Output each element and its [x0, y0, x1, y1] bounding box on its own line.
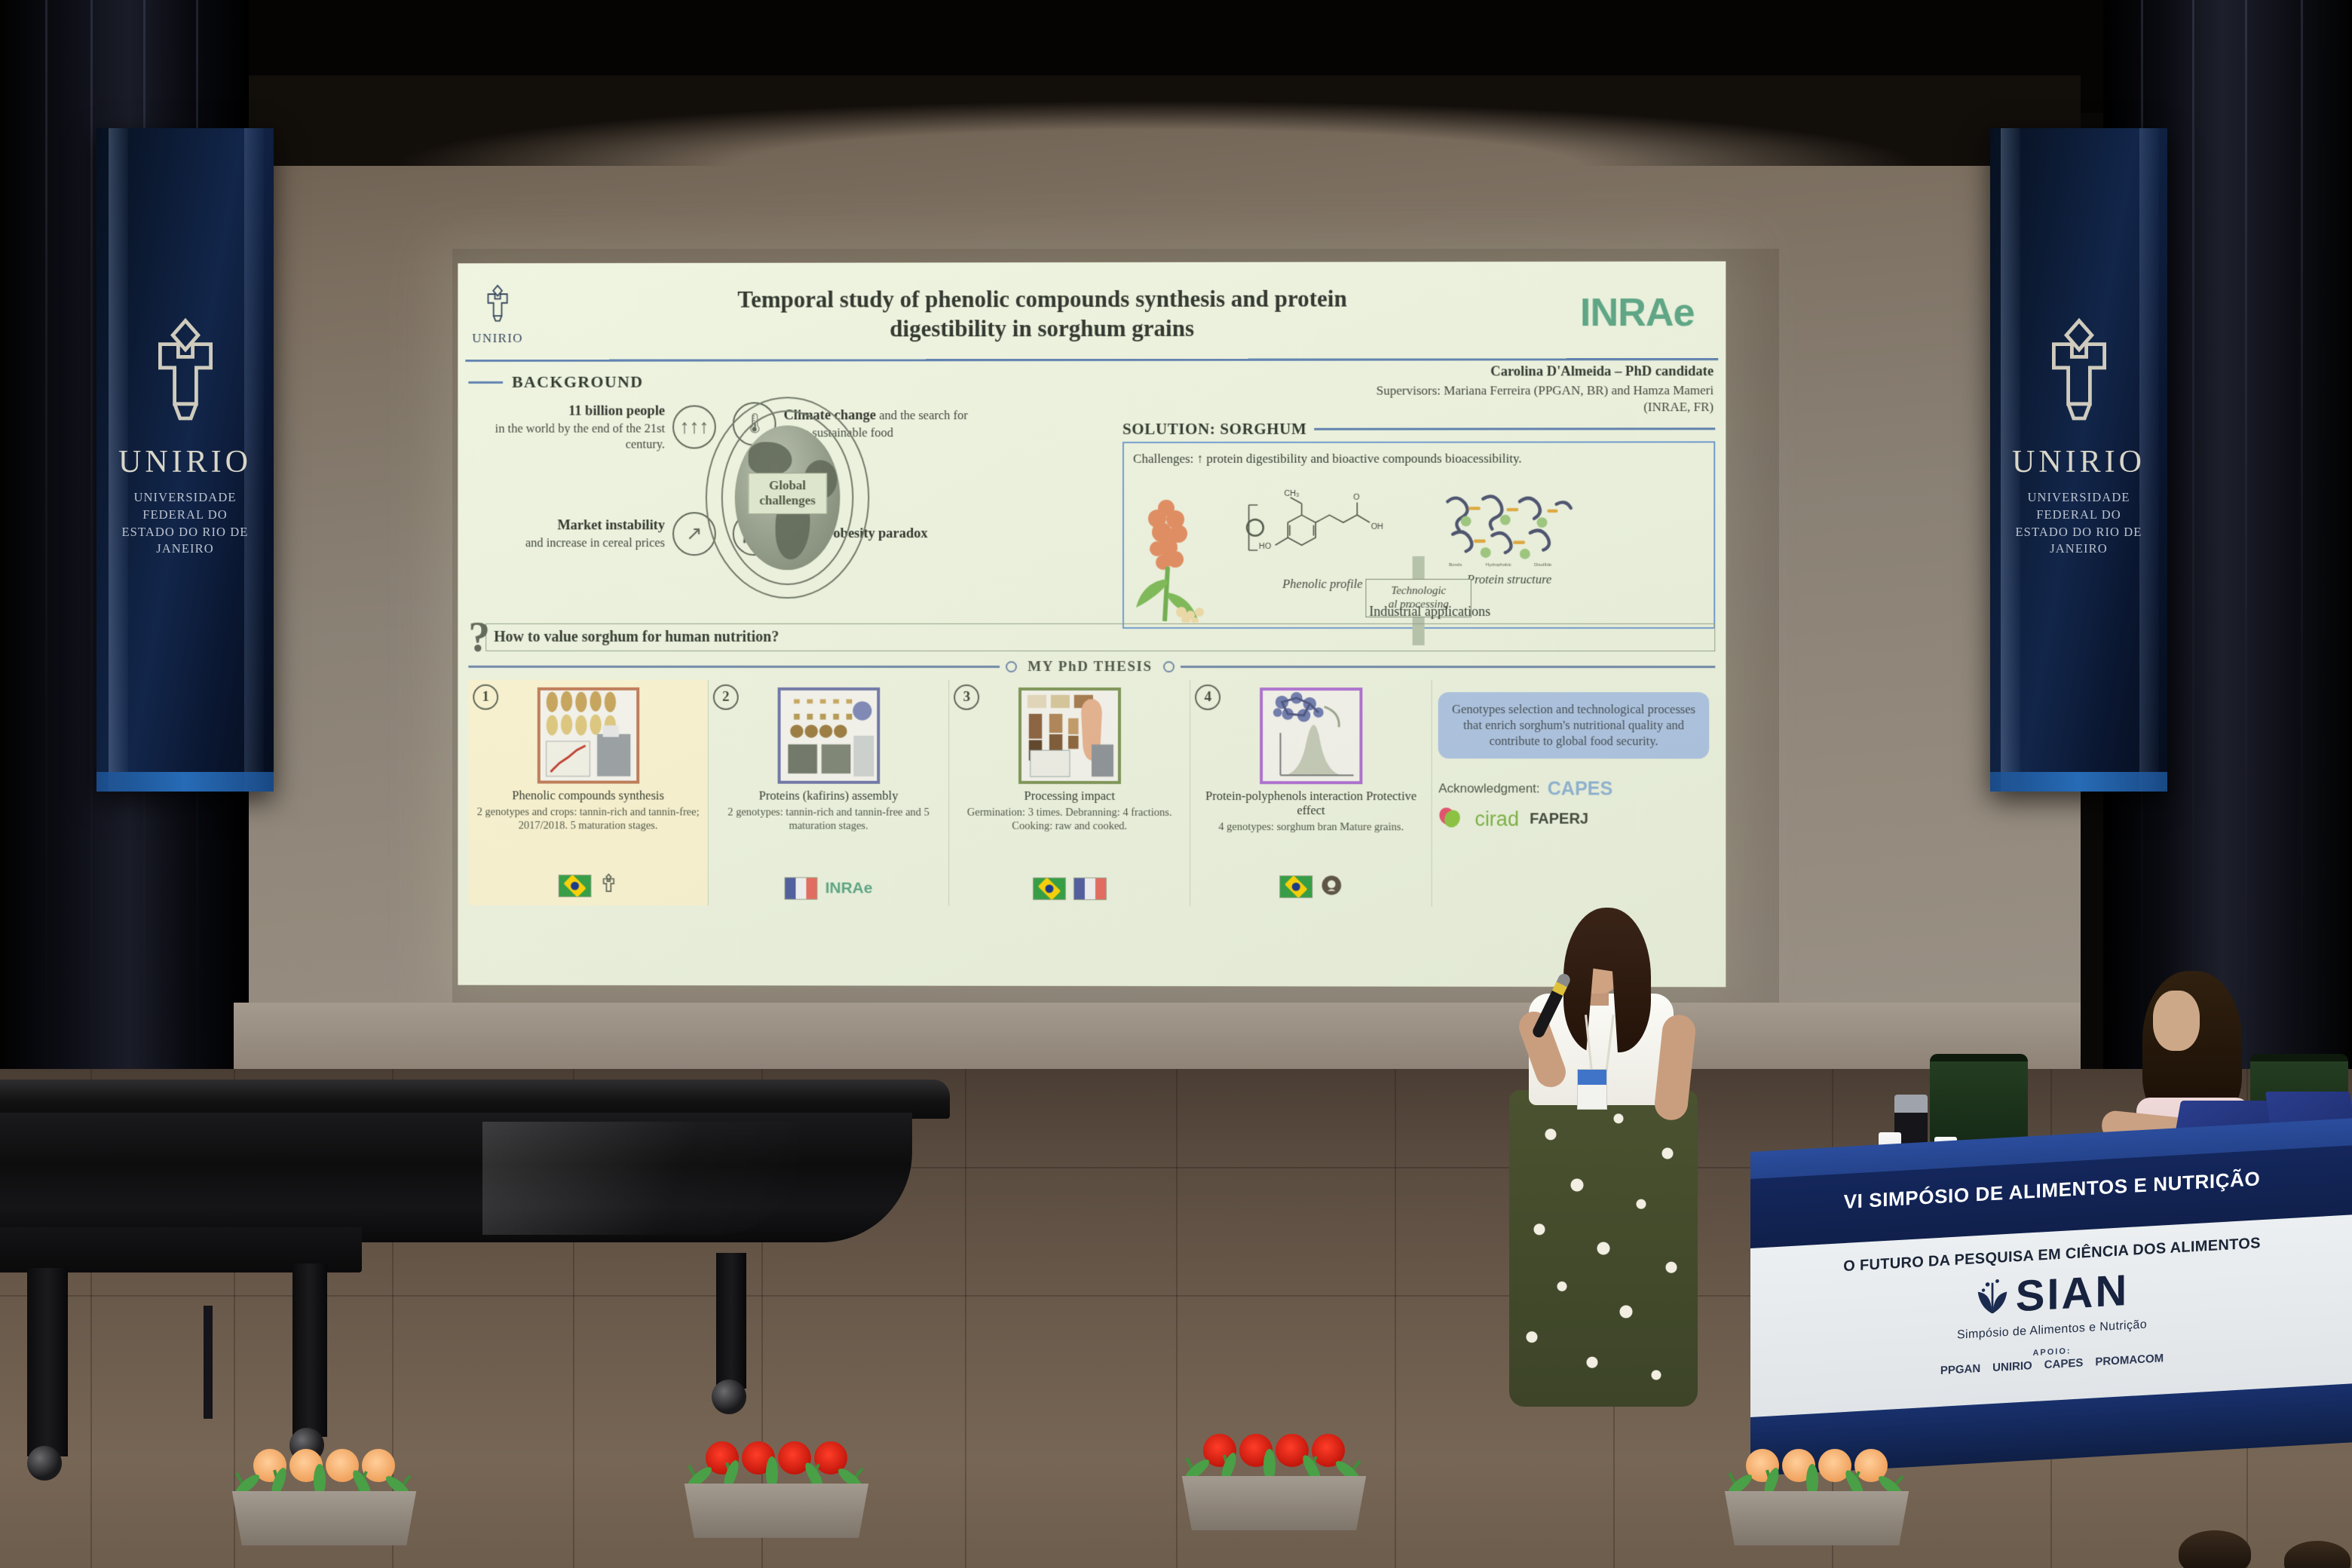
thesis-card: 3 Processing impact Germination: 3 times… [949, 680, 1190, 906]
svg-text:CH₃: CH₃ [1284, 490, 1299, 498]
processing-fractions-thumb-icon [1018, 688, 1121, 784]
sian-sprout-logo-icon [1975, 1276, 2010, 1321]
unirio-logo-icon [599, 873, 618, 899]
flower-planter [1719, 1432, 1915, 1545]
capes-logo-icon: CAPES [1548, 778, 1613, 800]
background-heading: BACKGROUND [468, 372, 1115, 392]
inrae-logo-icon: INRAe [825, 879, 873, 897]
svg-text:OH: OH [1371, 522, 1383, 531]
unirio-trident-logo-icon [2034, 317, 2124, 433]
unirio-banner-right: UNIRIO Universidade Federal do Estado do… [1990, 128, 2167, 792]
planter-box [1719, 1491, 1915, 1545]
thesis-card: 4 Protein-polyphenols interaction Protec… [1190, 680, 1432, 907]
thesis-card: 1 Phenolic compounds synthesis 2 genotyp… [468, 679, 709, 905]
acknowledgment-label: Acknowledgment: [1438, 782, 1540, 797]
piano-caster [712, 1380, 746, 1414]
acknowledgment-logos-row: cirad FAPERJ [1438, 806, 1709, 832]
grain-maturation-chart-thumb-icon [537, 687, 639, 783]
card-flags [1279, 874, 1343, 903]
solution-box: Challenges: ↑ protein digestibility and … [1122, 441, 1715, 629]
banner-footer-stripe [1990, 772, 2167, 792]
unirio-banner-subtitle: Universidade Federal do Estado do Rio de… [2000, 489, 2158, 558]
card-description: 4 genotypes: sorghum bran Mature grains. [1218, 820, 1404, 835]
flower-planter [678, 1425, 874, 1538]
panel-chair [1930, 1054, 2028, 1143]
card-title: Proteins (kafirins) assembly [759, 788, 899, 802]
unirio-banner-name: UNIRIO [2012, 444, 2145, 480]
svg-text:Disulfide: Disulfide [1534, 562, 1552, 567]
global-challenges-globe: Global challenges [694, 393, 881, 602]
card-description: Germination: 3 times. Debranning: 4 frac… [955, 806, 1184, 834]
card-number: 4 [1195, 684, 1220, 710]
heading-dash-icon [468, 381, 503, 383]
planter-box [226, 1491, 422, 1545]
molecular-docking-thumb-icon [1260, 688, 1362, 784]
slide-title: Temporal study of phenolic compounds syn… [527, 283, 1559, 344]
unirio-banner-subtitle: Universidade Federal do Estado do Rio de… [106, 489, 265, 558]
background-item: Market instability and increase in cerea… [468, 512, 716, 556]
unirio-trident-logo-icon [140, 317, 231, 433]
thesis-card: 2 Proteins (kafirins) assembly 2 genotyp… [709, 679, 949, 905]
slide-authors: Carolina D'Almeida – PhD candidate Super… [1079, 364, 1713, 416]
banner-footer-stripe [96, 772, 274, 792]
slide-logo-label: UNIRIO [472, 330, 523, 345]
cirad-logo-text: cirad [1475, 807, 1519, 831]
acknowledgment-row: Acknowledgment: CAPES [1438, 778, 1709, 800]
supervisors: Supervisors: Mariana Ferreira (PPGAN, BR… [1079, 382, 1713, 416]
conclusion-text: Genotypes selection and technological pr… [1438, 692, 1709, 759]
sorghum-plant-icon [1135, 495, 1219, 623]
projection-screen: UNIRIO Temporal study of phenolic compou… [458, 262, 1726, 988]
sponsor-capes-logo: CAPES [2044, 1356, 2084, 1371]
author-name: Carolina D'Almeida – PhD candidate [1079, 364, 1713, 381]
research-question-text: How to value sorghum for human nutrition… [485, 623, 1715, 651]
card-title: Protein-polyphenols interaction Protecti… [1196, 789, 1426, 818]
conference-badge [1577, 1069, 1607, 1110]
grand-piano [0, 1080, 995, 1479]
svg-text:Bonds: Bonds [1449, 562, 1462, 567]
card-number: 3 [954, 684, 979, 710]
divider-dot-icon [1006, 661, 1017, 672]
question-mark-icon: ? [468, 622, 490, 652]
france-flag-icon [785, 877, 818, 899]
background-item: 11 billion people in the world by the en… [468, 402, 716, 452]
background-section: BACKGROUND 11 billion people in the worl… [468, 367, 1115, 617]
faperj-logo-icon: FAPERJ [1530, 810, 1588, 828]
slide-header: UNIRIO Temporal study of phenolic compou… [458, 262, 1726, 360]
piano-leg [27, 1268, 68, 1456]
inrae-logo: INRAe [1559, 290, 1715, 335]
piano-caster [27, 1446, 62, 1481]
flower-planter [1176, 1417, 1372, 1530]
piano-pedal-lyre [204, 1306, 213, 1419]
presenter [1499, 880, 1710, 1423]
france-flag-icon [1073, 877, 1107, 900]
piano-leg [292, 1263, 327, 1437]
conclusion-panel: Genotypes selection and technological pr… [1432, 680, 1715, 907]
unicamp-logo-icon [1320, 874, 1343, 900]
unirio-trident-logo-icon [479, 283, 516, 329]
arch-shadow [234, 75, 2081, 166]
card-title: Processing impact [1024, 789, 1115, 803]
solution-heading: SOLUTION: SORGHUM [1122, 419, 1715, 439]
thesis-cards-row: 1 Phenolic compounds synthesis 2 genotyp… [468, 679, 1715, 906]
card-flags [558, 873, 618, 902]
svg-text:O: O [1353, 493, 1359, 502]
card-number: 1 [473, 684, 498, 709]
solution-challenges: Challenges: ↑ protein digestibility and … [1133, 450, 1704, 467]
planter-box [1176, 1476, 1372, 1530]
brazil-flag-icon [1033, 877, 1066, 900]
planter-box [678, 1484, 874, 1538]
brazil-flag-icon [1279, 875, 1312, 898]
card-description: 2 genotypes: tannin-rich and tannin-free… [715, 805, 942, 833]
card-title: Phenolic compounds synthesis [512, 788, 664, 802]
sponsor-ppgan-logo: PPGAN [1940, 1362, 1980, 1377]
slide-unirio-logo: UNIRIO [468, 283, 527, 346]
thesis-divider: MY PhD THESIS [468, 658, 1715, 675]
brazil-flag-icon [558, 874, 591, 897]
gel-electrophoresis-thumb-icon [777, 687, 880, 783]
card-flags: INRAe [785, 877, 873, 902]
unirio-banner-name: UNIRIO [118, 444, 252, 480]
thesis-heading: MY PhD THESIS [1023, 659, 1156, 675]
card-flags [1033, 877, 1107, 903]
card-number: 2 [713, 684, 739, 709]
divider-dot-icon [1163, 661, 1174, 672]
heading-rule [1315, 427, 1716, 430]
research-question-row: ? How to value sorghum for human nutriti… [468, 622, 1715, 653]
svg-text:Hydrophobic: Hydrophobic [1486, 562, 1511, 567]
svg-text:HO: HO [1259, 542, 1271, 551]
sponsor-unirio-logo: UNIRIO [1992, 1359, 2032, 1374]
cirad-mark-icon [1438, 806, 1464, 832]
piano-reflection [482, 1122, 799, 1235]
flower-planter [226, 1432, 422, 1545]
card-description: 2 genotypes and crops: tannin-rich and t… [474, 805, 702, 833]
moderator-face [2153, 991, 2200, 1051]
piano-leg [716, 1253, 746, 1389]
wall-base-molding [234, 1003, 2081, 1072]
unirio-banner-left: UNIRIO Universidade Federal do Estado do… [96, 128, 274, 792]
presenter-skirt [1509, 1090, 1698, 1407]
industrial-applications-label: Industrial applications [1294, 604, 1566, 620]
conference-photo: UNIRIO Universidade Federal do Estado do… [0, 0, 2352, 1568]
sian-wordmark: SIAN [2016, 1271, 2130, 1317]
globe-center-label: Global challenges [748, 473, 826, 514]
